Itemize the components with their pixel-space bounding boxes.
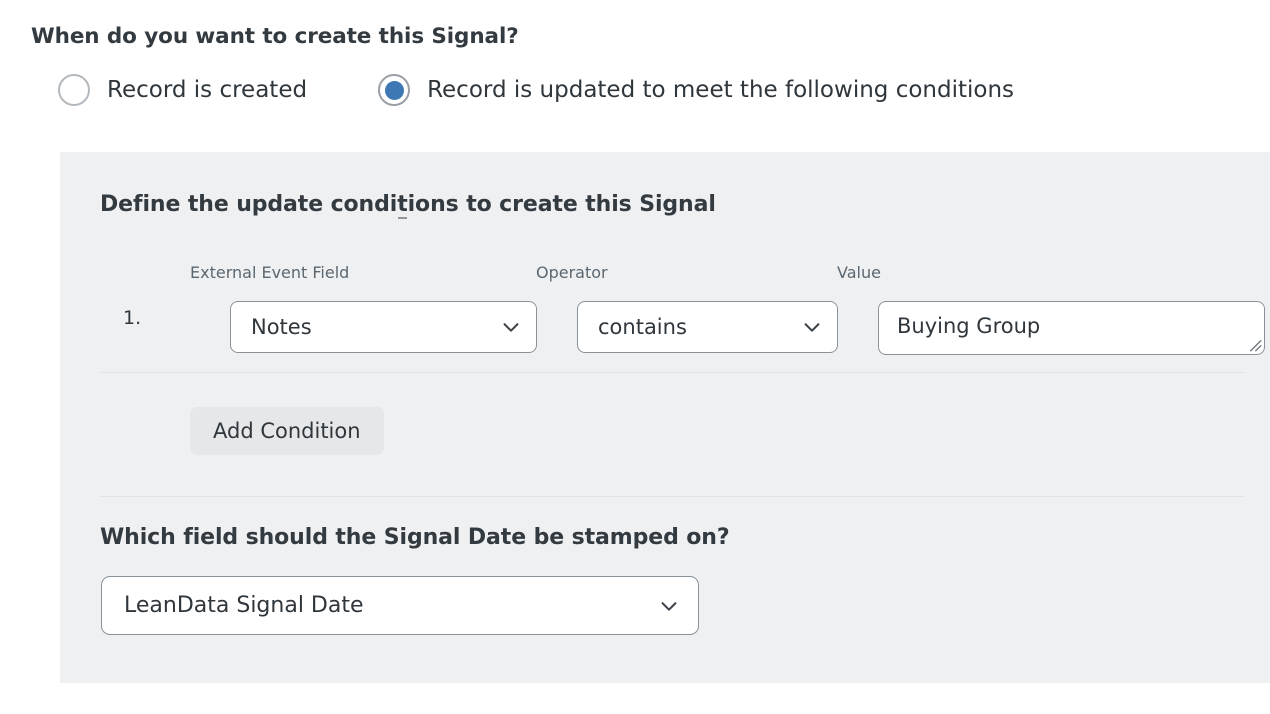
chevron-down-icon [658, 595, 680, 617]
operator-value: contains [598, 315, 801, 339]
value-text: Buying Group [897, 313, 1246, 340]
radio-dot [385, 81, 404, 100]
section-divider [100, 496, 1245, 497]
panel-title: Define the update conditions to create t… [100, 192, 716, 217]
signal-date-field-value: LeanData Signal Date [124, 593, 658, 618]
trigger-radio-group: Record is created Record is updated to m… [31, 74, 1014, 106]
text-caret-artifact [398, 217, 407, 219]
radio-option-record-updated[interactable]: Record is updated to meet the following … [378, 74, 1014, 106]
column-header-operator: Operator [536, 263, 608, 282]
radio-option-record-created[interactable]: Record is created [58, 74, 307, 106]
conditions-panel: Define the update conditions to create t… [60, 152, 1270, 683]
column-header-external-event-field: External Event Field [190, 263, 349, 282]
signal-date-question-heading: Which field should the Signal Date be st… [100, 525, 730, 550]
chevron-down-icon [801, 316, 823, 338]
value-textarea[interactable]: Buying Group [878, 301, 1265, 355]
external-event-field-select[interactable]: Notes [230, 301, 537, 353]
signal-date-field-select[interactable]: LeanData Signal Date [101, 576, 699, 635]
radio-label-record-created: Record is created [107, 79, 307, 102]
column-header-value: Value [837, 263, 881, 282]
operator-select[interactable]: contains [577, 301, 838, 353]
external-event-field-value: Notes [251, 315, 500, 339]
signal-trigger-page: When do you want to create this Signal? … [0, 0, 1270, 714]
radio-label-record-updated: Record is updated to meet the following … [427, 79, 1014, 102]
trigger-question-heading: When do you want to create this Signal? [31, 24, 519, 49]
condition-index: 1. [123, 307, 141, 329]
chevron-down-icon [500, 316, 522, 338]
add-condition-button[interactable]: Add Condition [190, 407, 384, 455]
radio-unchecked-icon[interactable] [58, 74, 90, 106]
condition-divider [100, 372, 1245, 373]
radio-checked-icon[interactable] [378, 74, 410, 106]
resize-grip-icon[interactable] [1247, 337, 1262, 352]
